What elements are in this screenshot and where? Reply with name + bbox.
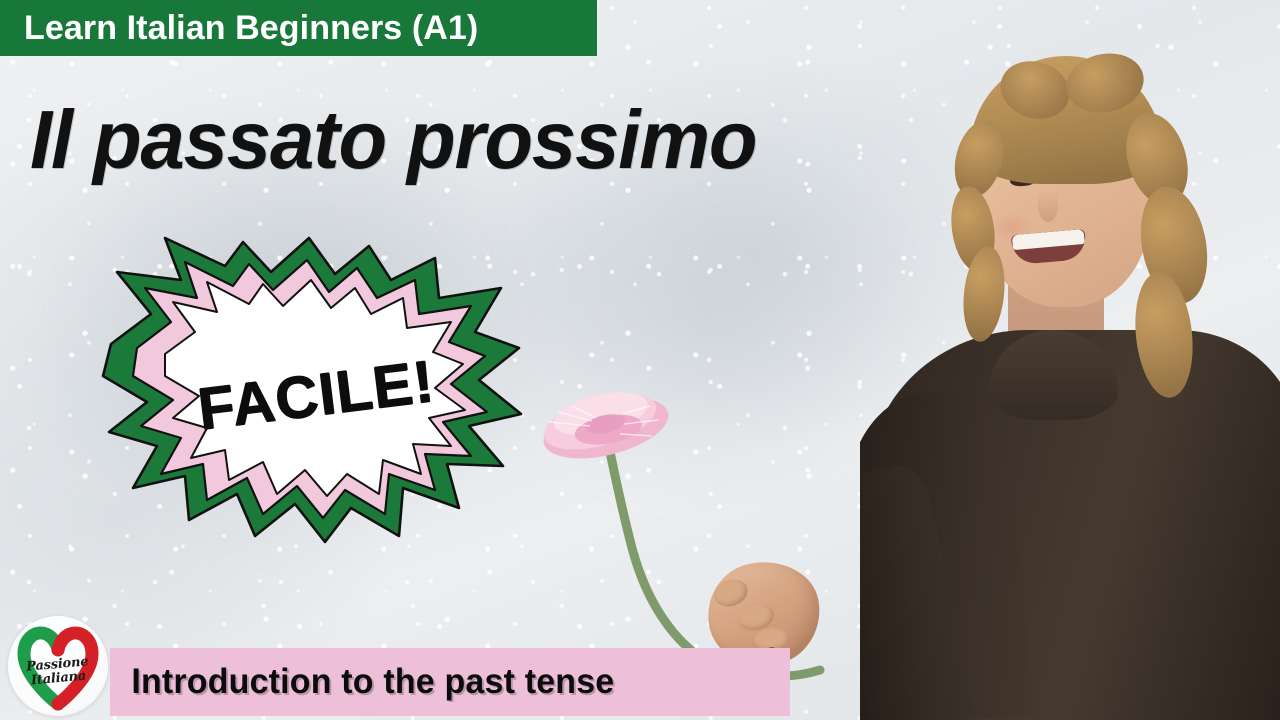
presenter-nose bbox=[1038, 190, 1058, 222]
burst-label-wrapper: FACILE! bbox=[103, 236, 523, 548]
course-level-label: Learn Italian Beginners (A1) bbox=[0, 9, 478, 48]
burst-label: FACILE! bbox=[194, 347, 438, 444]
video-thumbnail: Learn Italian Beginners (A1) Il passato … bbox=[0, 0, 1280, 720]
facile-badge: FACILE! bbox=[103, 236, 523, 548]
subtitle-bar: Introduction to the past tense bbox=[110, 648, 790, 716]
presenter-photo bbox=[860, 0, 1280, 720]
channel-logo: Passione Italiana bbox=[8, 616, 108, 716]
flower-head bbox=[537, 382, 674, 469]
flower-stem bbox=[606, 432, 716, 666]
course-level-banner: Learn Italian Beginners (A1) bbox=[0, 0, 597, 56]
page-title: Il passato prossimo bbox=[30, 92, 756, 188]
subtitle-label: Introduction to the past tense bbox=[110, 662, 614, 702]
